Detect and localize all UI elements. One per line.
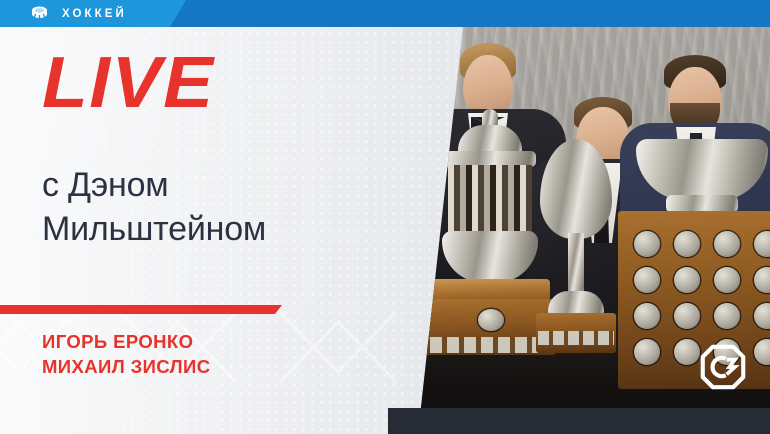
- photo-trophy-left-bowl: [442, 231, 538, 283]
- photo-trophy-center-nameplates: [538, 331, 614, 345]
- photo-trophy-right: [618, 139, 770, 389]
- photo-trophy-center-foot: [548, 291, 604, 315]
- photo-trophy-center: [526, 139, 626, 353]
- photo-trophy-center-bowl: [540, 139, 612, 239]
- live-announcement-banner: ХОККЕЙ LIVE с Дэном Мильштейном ИГОРЬ ЕР…: [0, 0, 770, 434]
- photo-trophy-right-medallion: [634, 303, 660, 329]
- category-tag[interactable]: ХОККЕЙ: [0, 0, 186, 27]
- author-name: МИХАИЛ ЗИСЛИС: [42, 355, 210, 380]
- hockey-puck-icon: [29, 5, 50, 22]
- photo-trophy-right-medallion: [714, 267, 740, 293]
- photo-trophy-right-bowl: [636, 139, 768, 201]
- banner-subtitle-line2: Мильштейном: [42, 207, 266, 251]
- photo-trophy-right-medallion: [714, 303, 740, 329]
- banner-subtitle-line1: с Дэном: [42, 163, 266, 207]
- photo-trophy-right-medallion: [674, 231, 700, 257]
- authors-list: ИГОРЬ ЕРОНКО МИХАИЛ ЗИСЛИС: [42, 330, 210, 380]
- photo-trophy-right-medallion: [634, 339, 660, 365]
- author-name: ИГОРЬ ЕРОНКО: [42, 330, 210, 355]
- photo-trophy-left-columns: [448, 165, 532, 233]
- photo-trophy-right-medallion: [634, 231, 660, 257]
- photo-person-left-head: [463, 55, 513, 117]
- logo-letter-s: [713, 358, 726, 376]
- photo-trophy-left-medallion: [478, 309, 504, 331]
- banner-subtitle: с Дэном Мильштейном: [42, 163, 266, 251]
- photo-trophy-right-medallion: [714, 231, 740, 257]
- category-tag-label: ХОККЕЙ: [62, 8, 127, 20]
- sport-express-logo[interactable]: [700, 344, 746, 390]
- bottom-accent-bar: [330, 408, 770, 434]
- logo-letter-e: [727, 360, 735, 375]
- photo-trophy-right-medallion: [634, 267, 660, 293]
- photo-trophy-right-medallion: [674, 303, 700, 329]
- photo-trophy-right-medallion: [674, 339, 700, 365]
- live-label: LIVE: [42, 47, 215, 119]
- photo-trophy-right-medallion: [674, 267, 700, 293]
- photo-trophy-center-stem: [568, 233, 584, 297]
- red-divider: [0, 305, 282, 314]
